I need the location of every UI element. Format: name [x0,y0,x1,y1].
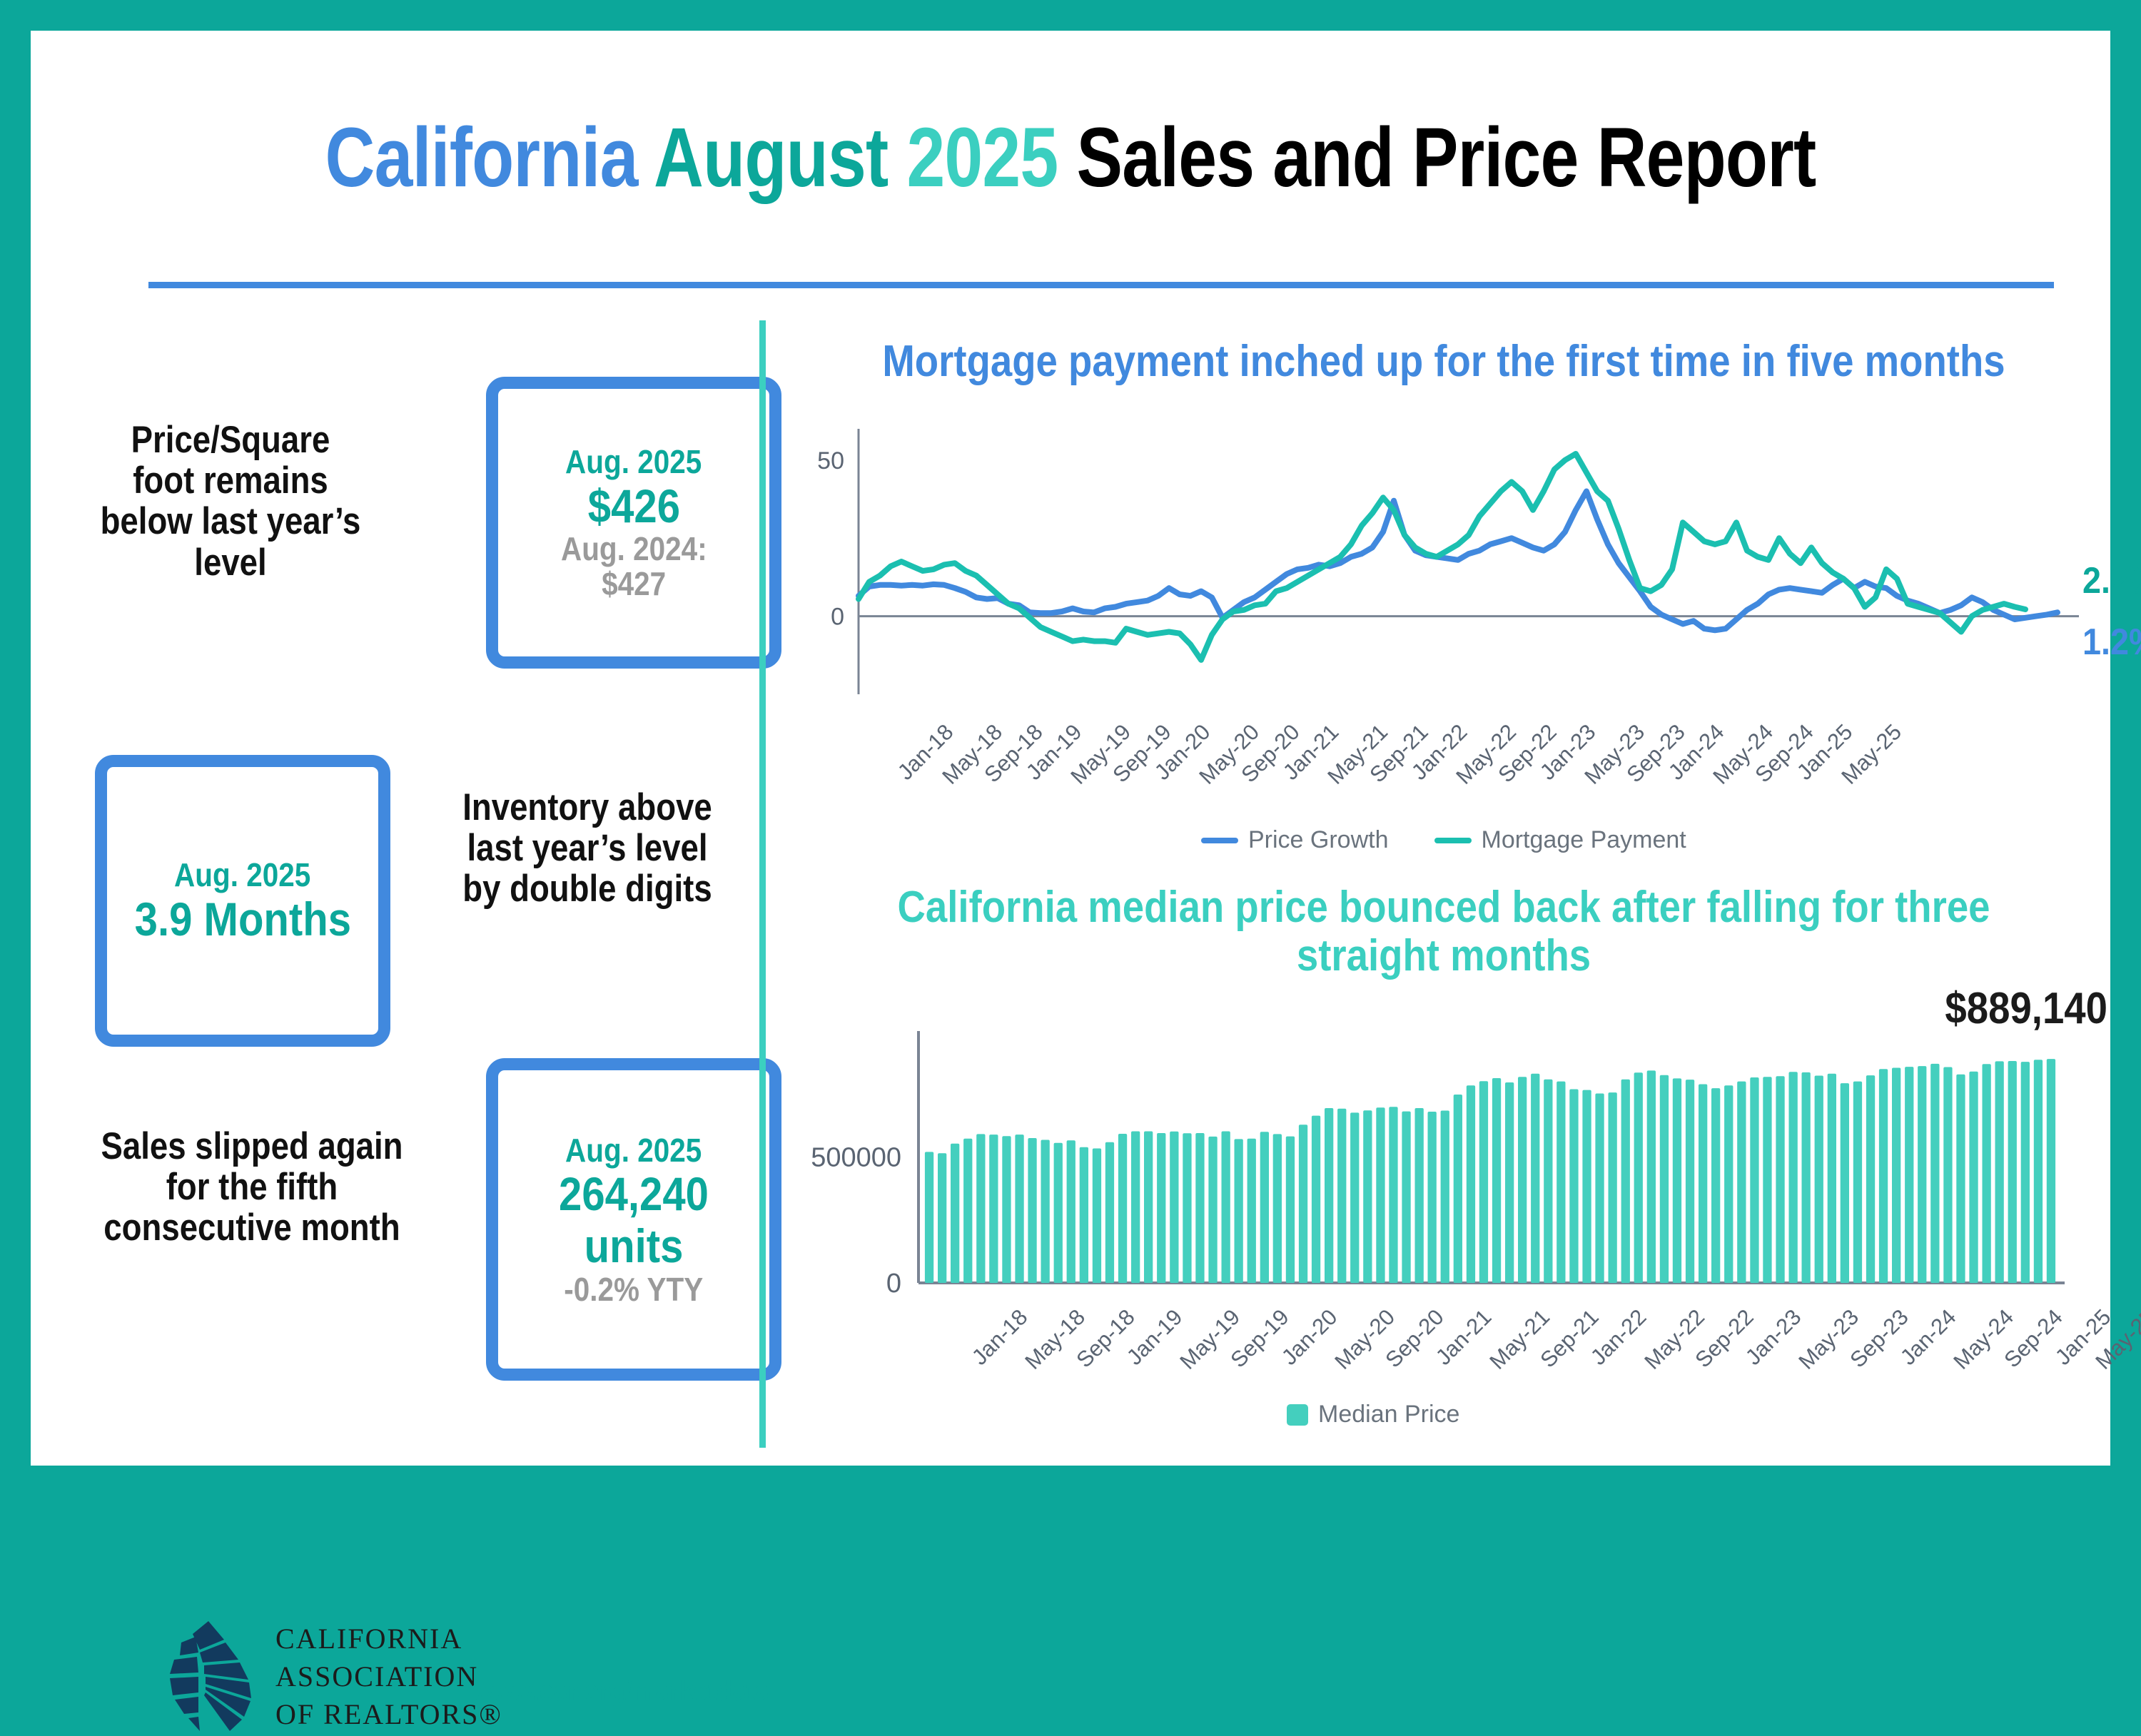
stat-box-sales[interactable]: Aug. 2025 264,240 units -0.2% YTY [486,1058,781,1381]
bar [1737,1082,1746,1283]
bar [1402,1112,1410,1283]
callout-price-per-sqft: Price/Square foot remains below last yea… [98,420,363,583]
bar [1286,1137,1295,1283]
stat-sub-line1: -0.2% YTY [564,1272,703,1307]
legend-item[interactable]: Mortgage Payment [1434,826,1686,854]
bar [1557,1082,1565,1283]
bar [1943,1067,1952,1284]
bar [1350,1112,1359,1283]
stat-value: 264,240 units [515,1168,753,1271]
bar [1776,1076,1784,1283]
bar [1492,1078,1501,1283]
y-tick-label: 500000 [811,1143,901,1173]
bar [1802,1072,1811,1283]
legend-item[interactable]: Price Growth [1201,826,1389,854]
bar [1325,1108,1333,1283]
bar [1609,1092,1617,1283]
bar [976,1134,985,1283]
bar [1841,1083,1849,1283]
bar [1041,1140,1050,1284]
left-summary-column: Price/Square foot remains below last yea… [74,316,759,1458]
bar-chart: 0500000 [773,1022,2115,1304]
bar [1260,1132,1269,1283]
bar [1905,1067,1913,1283]
bar [1621,1080,1630,1283]
bar [1750,1077,1758,1283]
stat-box-price-per-sqft[interactable]: Aug. 2025 $426 Aug. 2024: $427 [486,377,781,669]
bar [1441,1111,1449,1284]
y-tick-label: 50 [817,447,844,474]
bar [1208,1137,1217,1283]
bar [1144,1132,1153,1284]
bar [1105,1142,1114,1283]
legend-item[interactable]: Median Price [1287,1401,1459,1428]
column-divider [759,320,766,1448]
y-tick-label: 0 [831,604,844,631]
bar [1376,1107,1385,1283]
logo-line-1: CALIFORNIA [275,1620,502,1658]
bar [1647,1070,1656,1283]
bar [1969,1072,1978,1283]
bar [1531,1074,1539,1283]
bar-chart-x-axis: Jan-18May-18Sep-18Jan-19May-19Sep-19Jan-… [773,1304,2115,1390]
bar [1789,1072,1798,1283]
legend-label: Mortgage Payment [1482,826,1686,854]
x-tick-label: Jan-18 [967,1304,1033,1370]
bar [1995,1061,2004,1283]
legend-swatch-icon [1287,1404,1308,1426]
bar [1428,1112,1437,1283]
bar [1815,1076,1823,1284]
bar [1222,1132,1230,1284]
title-part-rest: Sales and Price Report [1076,111,1816,205]
bar [925,1152,933,1283]
line-end-label-price-growth: 1.2% [2082,621,2141,664]
bar [1028,1138,1036,1283]
stat-sub-line2: $427 [602,567,666,601]
logo-line-3: OF REALTORS® [275,1696,502,1734]
bar [1544,1080,1552,1283]
stat-month-label: Aug. 2025 [174,857,310,893]
legend-swatch-icon [1201,838,1238,843]
bar [989,1135,998,1283]
bar [1157,1133,1165,1283]
bar [1879,1069,1888,1283]
bar [1467,1085,1475,1283]
bar [1131,1132,1140,1284]
bar [1686,1080,1694,1283]
line-series-mortgage-payment [859,454,2025,660]
stat-value: $426 [587,480,679,532]
bar [2034,1060,2043,1283]
bar [1595,1094,1604,1284]
bar [1054,1143,1063,1283]
bar [2021,1062,2030,1283]
car-logo-text: CALIFORNIA ASSOCIATION OF REALTORS® [275,1620,502,1733]
bar [1518,1077,1527,1283]
title-part-california: California [325,111,654,205]
bar [1956,1075,1965,1283]
report-card: California August 2025 Sales and Price R… [31,31,2110,1466]
legend-label: Price Growth [1248,826,1389,854]
title-part-month: August [654,111,906,205]
line-series-price-growth [859,492,2058,631]
y-tick-label: 0 [886,1269,901,1299]
bar [1093,1149,1101,1284]
bar [1183,1133,1191,1283]
line-end-label-mortgage-payment: 2.2% [2082,559,2141,602]
bar [1582,1090,1591,1283]
page-title: California August 2025 Sales and Price R… [218,109,1923,206]
bar [1363,1110,1372,1283]
bar [1247,1139,1256,1283]
car-fan-logo-icon [156,1618,263,1736]
bar [1118,1134,1127,1283]
stat-sub-line1: Aug. 2024: [561,532,707,567]
bar [1479,1081,1488,1283]
bar [1235,1139,1243,1283]
bar [1828,1074,1836,1283]
bar-chart-title: California median price bounced back aft… [854,883,2034,980]
bar [1170,1132,1178,1283]
bar [1866,1075,1875,1283]
bar [1505,1082,1514,1283]
stat-month-label: Aug. 2025 [565,1132,702,1169]
bar [1918,1066,1926,1283]
bar [1415,1108,1424,1283]
bar [938,1153,946,1283]
bar [1454,1095,1462,1283]
stat-value: 3.9 Months [134,893,350,945]
bar [1067,1140,1075,1283]
title-divider [148,282,2054,288]
bar [1080,1147,1088,1283]
line-chart-x-axis: Jan-18May-18Sep-18Jan-19May-19Sep-19Jan-… [773,719,2115,805]
bar [1673,1078,1681,1283]
stat-box-inventory[interactable]: Aug. 2025 3.9 Months [95,755,390,1047]
bar [1983,1064,1991,1283]
marketdata-url[interactable]: www.car.org/marketdata [473,1675,769,1707]
callout-inventory: Inventory above last year’s level by dou… [446,787,729,910]
bar [1015,1135,1023,1283]
bar [2008,1061,2017,1283]
legend-swatch-icon [1434,838,1472,843]
charts-column: Mortgage payment inched up for the first… [773,316,2115,1472]
callout-sales: Sales slipped again for the fifth consec… [98,1126,405,1249]
bar [1930,1064,1939,1283]
bar [1299,1125,1307,1283]
bar [1724,1085,1733,1283]
bar-chart-svg: 0500000 [773,1022,2115,1304]
bar [1337,1109,1346,1283]
bar [1711,1088,1720,1283]
bar [1634,1072,1643,1283]
bar [1002,1136,1011,1283]
logo-line-2: ASSOCIATION [275,1658,502,1696]
bar [1699,1085,1707,1284]
car-logo: CALIFORNIA ASSOCIATION OF REALTORS® [156,1618,502,1736]
bar [1763,1077,1771,1283]
legend-label: Median Price [1318,1401,1459,1428]
bar [1273,1134,1282,1283]
line-chart-svg: 050 [773,416,2115,723]
bar [1660,1075,1669,1283]
bar [951,1144,959,1283]
bar [1892,1068,1900,1284]
bar [1312,1116,1320,1283]
bar [2047,1059,2055,1283]
title-part-year: 2025 [906,111,1076,205]
bar [1195,1133,1204,1283]
bar [1389,1107,1397,1283]
line-chart: 050 2.2%1.2% [773,416,2115,723]
x-tick-label: May-18 [1021,1304,1091,1375]
bar-chart-legend: Median Price [1287,1401,1492,1428]
line-chart-legend: Price GrowthMortgage Payment [1201,826,1719,854]
bar [1853,1082,1862,1283]
line-chart-title: Mortgage payment inched up for the first… [854,337,2034,386]
stat-month-label: Aug. 2025 [565,444,702,480]
bar [963,1139,972,1283]
bar [1569,1090,1578,1284]
